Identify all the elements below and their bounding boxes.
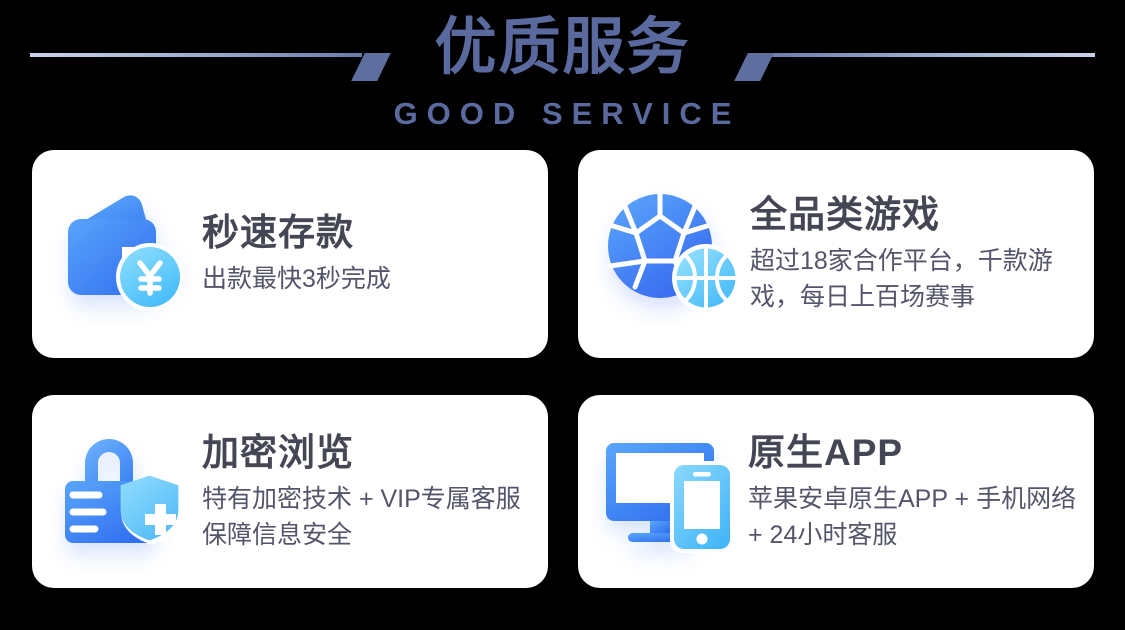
feature-card-native-app[interactable]: 原生APP 苹果安卓原生APP + 手机网络 + 24小时客服 xyxy=(578,395,1094,588)
wallet-yen-icon xyxy=(58,184,198,324)
lock-shield-icon xyxy=(58,422,198,562)
card-description: 苹果安卓原生APP + 手机网络 + 24小时客服 xyxy=(748,481,1078,553)
feature-card-grid: 秒速存款 出款最快3秒完成 xyxy=(32,150,1094,590)
card-title: 原生APP xyxy=(748,431,1084,475)
card-title: 全品类游戏 xyxy=(750,193,1084,237)
soccer-basketball-icon xyxy=(604,184,744,324)
card-text: 原生APP 苹果安卓原生APP + 手机网络 + 24小时客服 xyxy=(744,431,1094,553)
card-title: 秒速存款 xyxy=(202,211,538,255)
card-text: 秒速存款 出款最快3秒完成 xyxy=(198,211,548,297)
feature-card-games[interactable]: 全品类游戏 超过18家合作平台，千款游戏，每日上百场赛事 xyxy=(578,150,1094,358)
card-description: 超过18家合作平台，千款游戏，每日上百场赛事 xyxy=(750,243,1080,315)
feature-card-deposit[interactable]: 秒速存款 出款最快3秒完成 xyxy=(32,150,548,358)
card-description: 出款最快3秒完成 xyxy=(202,261,538,297)
monitor-phone-icon xyxy=(604,422,744,562)
feature-card-encryption[interactable]: 加密浏览 特有加密技术 + VIP专属客服保障信息安全 xyxy=(32,395,548,588)
page-subtitle: GOOD SERVICE xyxy=(0,95,1125,133)
card-title: 加密浏览 xyxy=(202,431,538,475)
page-header: 优质服务 GOOD SERVICE xyxy=(0,0,1125,146)
card-text: 加密浏览 特有加密技术 + VIP专属客服保障信息安全 xyxy=(198,431,548,553)
page-title: 优质服务 xyxy=(0,12,1125,84)
card-text: 全品类游戏 超过18家合作平台，千款游戏，每日上百场赛事 xyxy=(746,193,1094,315)
card-description: 特有加密技术 + VIP专属客服保障信息安全 xyxy=(202,481,532,553)
